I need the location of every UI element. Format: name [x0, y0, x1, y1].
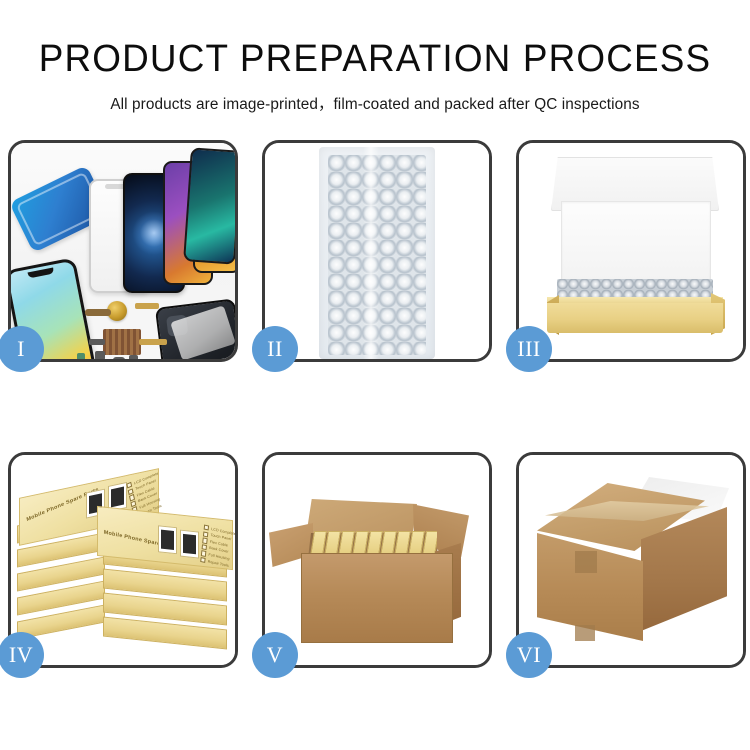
small-part-4	[129, 355, 138, 359]
battery-part	[77, 353, 85, 359]
small-part-2	[95, 351, 105, 359]
bubble-wrap-scene	[265, 143, 489, 359]
flex-cable-part-1	[135, 303, 159, 309]
step-badge-4: IV	[0, 632, 44, 678]
step-panel-1: I	[8, 140, 238, 362]
step-badge-3: III	[506, 326, 552, 372]
step-panel-5: V	[262, 452, 492, 668]
sealed-carton-scene	[519, 455, 743, 665]
bubble-wrap-pouch	[319, 147, 435, 359]
foam-liner	[561, 201, 711, 281]
carton-tab-upper	[575, 551, 597, 573]
step-2-image	[265, 143, 489, 359]
pouch-highlight	[363, 147, 379, 359]
box-screen-image-front-2	[180, 530, 199, 559]
carton-tab-lower	[575, 625, 595, 641]
step-badge-1: I	[0, 326, 44, 372]
step-5-image	[265, 455, 489, 665]
step-1-image	[11, 143, 235, 359]
step-panel-3: III	[516, 140, 746, 362]
logic-board-part	[103, 329, 141, 355]
step-4-image: Mobile Phone Spare Parts LCD Complete To…	[11, 455, 235, 665]
step-6-image	[519, 455, 743, 665]
box-screen-image-front-1	[158, 525, 177, 554]
step-badge-5: V	[252, 632, 298, 678]
phone-teal	[183, 147, 235, 264]
checkbox-icon	[202, 537, 208, 543]
box-stack-scene: Mobile Phone Spare Parts LCD Complete To…	[11, 455, 235, 665]
small-part-3	[113, 357, 125, 359]
open-carton-scene	[265, 455, 489, 665]
steps-grid: I II	[0, 0, 750, 750]
checkbox-icon	[203, 531, 209, 537]
checkbox-icon	[200, 557, 206, 563]
step-badge-6: VI	[506, 632, 552, 678]
step-badge-2: II	[252, 326, 298, 372]
box-checklist-front: LCD Complete Touch Panel Flex Cable Back…	[200, 525, 235, 571]
mailer-box-scene	[519, 143, 743, 359]
carton-front-panel	[301, 553, 453, 643]
step-panel-2: II	[262, 140, 492, 362]
checkbox-icon	[202, 544, 208, 550]
flex-cable-part-2	[139, 339, 167, 345]
small-part-1	[89, 339, 105, 345]
chip-part-1	[85, 309, 111, 316]
step-panel-6: VI	[516, 452, 746, 668]
products-scene	[11, 143, 235, 359]
checkbox-icon	[201, 550, 207, 556]
step-3-image	[519, 143, 743, 359]
mailer-front-panel	[547, 303, 723, 333]
product-preparation-infographic: PRODUCT PREPARATION PROCESS All products…	[0, 0, 750, 750]
step-panel-4: Mobile Phone Spare Parts LCD Complete To…	[8, 452, 238, 668]
checkbox-icon	[204, 525, 210, 531]
